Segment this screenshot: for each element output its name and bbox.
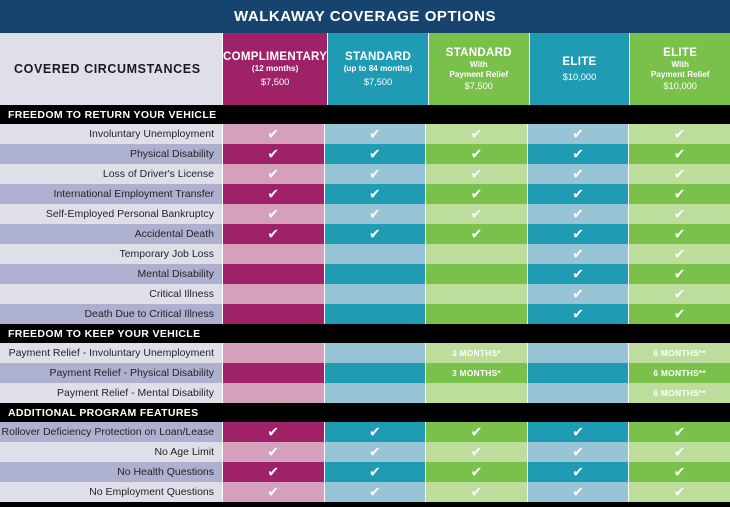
row-label: Involuntary Unemployment bbox=[0, 124, 222, 144]
checkmark-icon: ✔ bbox=[572, 227, 584, 241]
section-header-label: FREEDOM TO RETURN YOUR VEHICLE bbox=[8, 109, 216, 121]
coverage-check-cell: ✔ bbox=[324, 482, 426, 502]
coverage-check-cell: ✔ bbox=[425, 204, 527, 224]
row-label: Loss of Driver's License bbox=[0, 164, 222, 184]
coverage-check-cell: ✔ bbox=[628, 442, 730, 462]
coverage-check-cell: ✔ bbox=[628, 244, 730, 264]
coverage-value-cell: 3 MONTHS* bbox=[425, 363, 527, 383]
row-label: Self-Employed Personal Bankruptcy bbox=[0, 204, 222, 224]
table-row: No Health Questions✔✔✔✔✔ bbox=[0, 462, 730, 482]
row-label: No Health Questions bbox=[0, 462, 222, 482]
coverage-value-cell: 6 MONTHS** bbox=[628, 383, 730, 403]
coverage-check-cell: ✔ bbox=[628, 482, 730, 502]
row-label: No Age Limit bbox=[0, 442, 222, 462]
checkmark-icon: ✔ bbox=[471, 147, 483, 161]
coverage-check-cell: ✔ bbox=[527, 284, 629, 304]
header-column-3[interactable]: STANDARDWithPayment Relief$7,500 bbox=[428, 33, 529, 105]
table-row: Payment Relief - Mental Disability6 MONT… bbox=[0, 383, 730, 403]
checkmark-icon: ✔ bbox=[674, 147, 686, 161]
coverage-check-cell: ✔ bbox=[527, 124, 629, 144]
coverage-check-cell: ✔ bbox=[628, 304, 730, 324]
header-column-subtitle: (up to 84 months) bbox=[344, 65, 413, 74]
checkmark-icon: ✔ bbox=[471, 167, 483, 181]
coverage-comparison-table: WALKAWAY COVERAGE OPTIONS COVERED CIRCUM… bbox=[0, 0, 730, 507]
coverage-empty-cell bbox=[324, 363, 426, 383]
coverage-check-cell: ✔ bbox=[527, 204, 629, 224]
checkmark-icon: ✔ bbox=[674, 207, 686, 221]
checkmark-icon: ✔ bbox=[572, 247, 584, 261]
coverage-check-cell: ✔ bbox=[222, 184, 324, 204]
checkmark-icon: ✔ bbox=[674, 465, 686, 479]
header-column-name: STANDARD bbox=[446, 47, 512, 59]
checkmark-icon: ✔ bbox=[369, 207, 381, 221]
checkmark-icon: ✔ bbox=[471, 227, 483, 241]
checkmark-icon: ✔ bbox=[369, 465, 381, 479]
coverage-check-cell: ✔ bbox=[222, 164, 324, 184]
row-label: International Employment Transfer bbox=[0, 184, 222, 204]
checkmark-icon: ✔ bbox=[674, 167, 686, 181]
checkmark-icon: ✔ bbox=[674, 445, 686, 459]
coverage-empty-cell bbox=[425, 244, 527, 264]
header-column-4[interactable]: ELITE$10,000 bbox=[529, 33, 630, 105]
table-row: Temporary Job Loss✔✔ bbox=[0, 244, 730, 264]
checkmark-icon: ✔ bbox=[369, 425, 381, 439]
row-label-text: Rollover Deficiency Protection on Loan/L… bbox=[2, 426, 214, 438]
coverage-value-cell: 6 MONTHS** bbox=[628, 363, 730, 383]
coverage-check-cell: ✔ bbox=[324, 462, 426, 482]
coverage-check-cell: ✔ bbox=[628, 264, 730, 284]
header-label-cell: COVERED CIRCUMSTANCES bbox=[0, 33, 222, 105]
checkmark-icon: ✔ bbox=[674, 425, 686, 439]
coverage-empty-cell bbox=[527, 343, 629, 363]
coverage-empty-cell bbox=[527, 363, 629, 383]
row-label: Payment Relief - Mental Disability bbox=[0, 383, 222, 403]
checkmark-icon: ✔ bbox=[572, 307, 584, 321]
coverage-check-cell: ✔ bbox=[222, 144, 324, 164]
coverage-check-cell: ✔ bbox=[425, 164, 527, 184]
row-label: Mental Disability bbox=[0, 264, 222, 284]
coverage-check-cell: ✔ bbox=[527, 462, 629, 482]
checkmark-icon: ✔ bbox=[674, 187, 686, 201]
coverage-empty-cell bbox=[324, 304, 426, 324]
covered-circumstances-label: COVERED CIRCUMSTANCES bbox=[14, 62, 201, 76]
coverage-duration-text: 3 MONTHS* bbox=[452, 368, 501, 378]
coverage-check-cell: ✔ bbox=[628, 184, 730, 204]
table-row: Payment Relief - Physical Disability3 MO… bbox=[0, 363, 730, 383]
checkmark-icon: ✔ bbox=[674, 127, 686, 141]
coverage-check-cell: ✔ bbox=[527, 422, 629, 442]
coverage-empty-cell bbox=[425, 284, 527, 304]
coverage-check-cell: ✔ bbox=[324, 124, 426, 144]
coverage-check-cell: ✔ bbox=[527, 164, 629, 184]
checkmark-icon: ✔ bbox=[572, 187, 584, 201]
checkmark-icon: ✔ bbox=[572, 127, 584, 141]
coverage-check-cell: ✔ bbox=[527, 224, 629, 244]
row-label: Physical Disability bbox=[0, 144, 222, 164]
header-column-price: $10,000 bbox=[563, 72, 597, 82]
coverage-check-cell: ✔ bbox=[324, 184, 426, 204]
row-label-text: Payment Relief - Involuntary Unemploymen… bbox=[9, 347, 214, 359]
bottom-rule bbox=[0, 503, 730, 507]
header-column-name: ELITE bbox=[562, 56, 596, 68]
header-column-5[interactable]: ELITEWithPayment Relief$10,000 bbox=[629, 33, 730, 105]
coverage-empty-cell bbox=[527, 383, 629, 403]
row-label: Accidental Death bbox=[0, 224, 222, 244]
coverage-check-cell: ✔ bbox=[628, 422, 730, 442]
header-column-subtitle: With bbox=[470, 61, 488, 70]
coverage-value-cell: 6 MONTHS** bbox=[628, 343, 730, 363]
coverage-empty-cell bbox=[324, 383, 426, 403]
coverage-check-cell: ✔ bbox=[324, 164, 426, 184]
checkmark-icon: ✔ bbox=[267, 425, 279, 439]
checkmark-icon: ✔ bbox=[674, 267, 686, 281]
coverage-empty-cell bbox=[222, 244, 324, 264]
coverage-empty-cell bbox=[324, 264, 426, 284]
section-header-label: FREEDOM TO KEEP YOUR VEHICLE bbox=[8, 328, 200, 340]
section-header-3: ADDITIONAL PROGRAM FEATURES bbox=[0, 403, 730, 422]
coverage-check-cell: ✔ bbox=[425, 184, 527, 204]
checkmark-icon: ✔ bbox=[572, 287, 584, 301]
row-label-text: Accidental Death bbox=[135, 228, 214, 240]
coverage-check-cell: ✔ bbox=[628, 224, 730, 244]
checkmark-icon: ✔ bbox=[369, 187, 381, 201]
coverage-check-cell: ✔ bbox=[527, 244, 629, 264]
table-row: Mental Disability✔✔ bbox=[0, 264, 730, 284]
coverage-check-cell: ✔ bbox=[425, 124, 527, 144]
coverage-duration-text: 6 MONTHS** bbox=[653, 388, 706, 398]
table-row: Payment Relief - Involuntary Unemploymen… bbox=[0, 343, 730, 363]
row-label-text: Payment Relief - Physical Disability bbox=[49, 367, 214, 379]
row-label-text: International Employment Transfer bbox=[54, 188, 215, 200]
header-column-1[interactable]: COMPLIMENTARY(12 months)$7,500 bbox=[222, 33, 327, 105]
row-label: Payment Relief - Involuntary Unemploymen… bbox=[0, 343, 222, 363]
row-label-text: No Health Questions bbox=[117, 466, 214, 478]
coverage-empty-cell bbox=[222, 363, 324, 383]
coverage-empty-cell bbox=[222, 284, 324, 304]
coverage-check-cell: ✔ bbox=[425, 482, 527, 502]
coverage-check-cell: ✔ bbox=[222, 204, 324, 224]
checkmark-icon: ✔ bbox=[572, 167, 584, 181]
table-row: No Age Limit✔✔✔✔✔ bbox=[0, 442, 730, 462]
coverage-empty-cell bbox=[425, 264, 527, 284]
coverage-check-cell: ✔ bbox=[527, 442, 629, 462]
coverage-check-cell: ✔ bbox=[628, 124, 730, 144]
checkmark-icon: ✔ bbox=[369, 445, 381, 459]
coverage-check-cell: ✔ bbox=[222, 442, 324, 462]
checkmark-icon: ✔ bbox=[471, 445, 483, 459]
checkmark-icon: ✔ bbox=[572, 485, 584, 499]
coverage-check-cell: ✔ bbox=[527, 482, 629, 502]
checkmark-icon: ✔ bbox=[471, 465, 483, 479]
coverage-duration-text: 3 MONTHS* bbox=[452, 348, 501, 358]
row-label-text: Mental Disability bbox=[138, 268, 214, 280]
checkmark-icon: ✔ bbox=[267, 127, 279, 141]
checkmark-icon: ✔ bbox=[674, 287, 686, 301]
checkmark-icon: ✔ bbox=[369, 485, 381, 499]
coverage-check-cell: ✔ bbox=[628, 204, 730, 224]
checkmark-icon: ✔ bbox=[471, 485, 483, 499]
checkmark-icon: ✔ bbox=[369, 127, 381, 141]
header-column-2[interactable]: STANDARD(up to 84 months)$7,500 bbox=[327, 33, 428, 105]
checkmark-icon: ✔ bbox=[471, 127, 483, 141]
coverage-check-cell: ✔ bbox=[222, 224, 324, 244]
checkmark-icon: ✔ bbox=[572, 147, 584, 161]
coverage-check-cell: ✔ bbox=[527, 144, 629, 164]
checkmark-icon: ✔ bbox=[267, 227, 279, 241]
checkmark-icon: ✔ bbox=[674, 227, 686, 241]
header-column-price: $7,500 bbox=[261, 77, 289, 87]
header-column-name: ELITE bbox=[663, 47, 697, 59]
coverage-check-cell: ✔ bbox=[425, 442, 527, 462]
checkmark-icon: ✔ bbox=[674, 307, 686, 321]
checkmark-icon: ✔ bbox=[369, 167, 381, 181]
table-row: Involuntary Unemployment✔✔✔✔✔ bbox=[0, 124, 730, 144]
coverage-check-cell: ✔ bbox=[628, 284, 730, 304]
coverage-check-cell: ✔ bbox=[527, 184, 629, 204]
header-column-subtitle: Payment Relief bbox=[651, 71, 710, 80]
row-label: Rollover Deficiency Protection on Loan/L… bbox=[0, 422, 222, 442]
checkmark-icon: ✔ bbox=[572, 425, 584, 439]
coverage-check-cell: ✔ bbox=[425, 422, 527, 442]
coverage-check-cell: ✔ bbox=[324, 144, 426, 164]
section-header-1: FREEDOM TO RETURN YOUR VEHICLE bbox=[0, 105, 730, 124]
table-header-row: COVERED CIRCUMSTANCES COMPLIMENTARY(12 m… bbox=[0, 33, 730, 105]
row-label-text: Involuntary Unemployment bbox=[89, 128, 214, 140]
coverage-check-cell: ✔ bbox=[324, 442, 426, 462]
coverage-empty-cell bbox=[222, 304, 324, 324]
row-label: Payment Relief - Physical Disability bbox=[0, 363, 222, 383]
row-label-text: Death Due to Critical Illness bbox=[84, 308, 214, 320]
checkmark-icon: ✔ bbox=[369, 147, 381, 161]
row-label-text: No Employment Questions bbox=[89, 486, 214, 498]
checkmark-icon: ✔ bbox=[267, 187, 279, 201]
table-row: Loss of Driver's License✔✔✔✔✔ bbox=[0, 164, 730, 184]
section-header-label: ADDITIONAL PROGRAM FEATURES bbox=[8, 407, 198, 419]
checkmark-icon: ✔ bbox=[267, 147, 279, 161]
row-label-text: Payment Relief - Mental Disability bbox=[57, 387, 214, 399]
checkmark-icon: ✔ bbox=[267, 445, 279, 459]
table-row: Accidental Death✔✔✔✔✔ bbox=[0, 224, 730, 244]
table-title-bar: WALKAWAY COVERAGE OPTIONS bbox=[0, 0, 730, 33]
coverage-check-cell: ✔ bbox=[425, 462, 527, 482]
coverage-empty-cell bbox=[324, 244, 426, 264]
row-label: Temporary Job Loss bbox=[0, 244, 222, 264]
row-label: Critical Illness bbox=[0, 284, 222, 304]
checkmark-icon: ✔ bbox=[674, 247, 686, 261]
coverage-check-cell: ✔ bbox=[628, 164, 730, 184]
coverage-check-cell: ✔ bbox=[222, 124, 324, 144]
coverage-check-cell: ✔ bbox=[324, 224, 426, 244]
row-label-text: Loss of Driver's License bbox=[103, 168, 214, 180]
page-title: WALKAWAY COVERAGE OPTIONS bbox=[234, 8, 496, 25]
coverage-empty-cell bbox=[222, 264, 324, 284]
coverage-empty-cell bbox=[425, 383, 527, 403]
checkmark-icon: ✔ bbox=[369, 227, 381, 241]
coverage-duration-text: 6 MONTHS** bbox=[653, 368, 706, 378]
header-column-price: $10,000 bbox=[663, 81, 697, 91]
header-column-subtitle: Payment Relief bbox=[449, 71, 508, 80]
header-column-price: $7,500 bbox=[465, 81, 493, 91]
checkmark-icon: ✔ bbox=[572, 445, 584, 459]
table-row: Physical Disability✔✔✔✔✔ bbox=[0, 144, 730, 164]
checkmark-icon: ✔ bbox=[267, 465, 279, 479]
coverage-check-cell: ✔ bbox=[324, 422, 426, 442]
table-row: Critical Illness✔✔ bbox=[0, 284, 730, 304]
checkmark-icon: ✔ bbox=[572, 207, 584, 221]
coverage-check-cell: ✔ bbox=[527, 264, 629, 284]
coverage-value-cell: 3 MONTHS* bbox=[425, 343, 527, 363]
checkmark-icon: ✔ bbox=[471, 207, 483, 221]
row-label: Death Due to Critical Illness bbox=[0, 304, 222, 324]
header-column-subtitle: With bbox=[671, 61, 689, 70]
row-label-text: No Age Limit bbox=[154, 446, 214, 458]
section-header-2: FREEDOM TO KEEP YOUR VEHICLE bbox=[0, 324, 730, 343]
table-row: Death Due to Critical Illness✔✔ bbox=[0, 304, 730, 324]
table-row: Rollover Deficiency Protection on Loan/L… bbox=[0, 422, 730, 442]
coverage-check-cell: ✔ bbox=[222, 422, 324, 442]
checkmark-icon: ✔ bbox=[267, 167, 279, 181]
coverage-empty-cell bbox=[324, 284, 426, 304]
coverage-check-cell: ✔ bbox=[527, 304, 629, 324]
row-label-text: Critical Illness bbox=[149, 288, 214, 300]
header-column-subtitle: (12 months) bbox=[252, 65, 298, 74]
checkmark-icon: ✔ bbox=[267, 485, 279, 499]
coverage-check-cell: ✔ bbox=[222, 462, 324, 482]
coverage-empty-cell bbox=[324, 343, 426, 363]
table-row: International Employment Transfer✔✔✔✔✔ bbox=[0, 184, 730, 204]
coverage-empty-cell bbox=[425, 304, 527, 324]
row-label-text: Physical Disability bbox=[130, 148, 214, 160]
coverage-check-cell: ✔ bbox=[222, 482, 324, 502]
coverage-empty-cell bbox=[222, 383, 324, 403]
row-label: No Employment Questions bbox=[0, 482, 222, 502]
coverage-check-cell: ✔ bbox=[425, 224, 527, 244]
coverage-check-cell: ✔ bbox=[324, 204, 426, 224]
header-column-price: $7,500 bbox=[364, 77, 392, 87]
coverage-check-cell: ✔ bbox=[628, 144, 730, 164]
checkmark-icon: ✔ bbox=[674, 485, 686, 499]
checkmark-icon: ✔ bbox=[572, 267, 584, 281]
checkmark-icon: ✔ bbox=[267, 207, 279, 221]
row-label-text: Temporary Job Loss bbox=[119, 248, 214, 260]
coverage-duration-text: 6 MONTHS** bbox=[653, 348, 706, 358]
header-column-name: STANDARD bbox=[345, 51, 411, 63]
checkmark-icon: ✔ bbox=[471, 425, 483, 439]
table-row: No Employment Questions✔✔✔✔✔ bbox=[0, 482, 730, 502]
checkmark-icon: ✔ bbox=[572, 465, 584, 479]
coverage-empty-cell bbox=[222, 343, 324, 363]
row-label-text: Self-Employed Personal Bankruptcy bbox=[46, 208, 214, 220]
coverage-check-cell: ✔ bbox=[628, 462, 730, 482]
table-row: Self-Employed Personal Bankruptcy✔✔✔✔✔ bbox=[0, 204, 730, 224]
coverage-check-cell: ✔ bbox=[425, 144, 527, 164]
header-column-name: COMPLIMENTARY bbox=[223, 51, 327, 63]
checkmark-icon: ✔ bbox=[471, 187, 483, 201]
